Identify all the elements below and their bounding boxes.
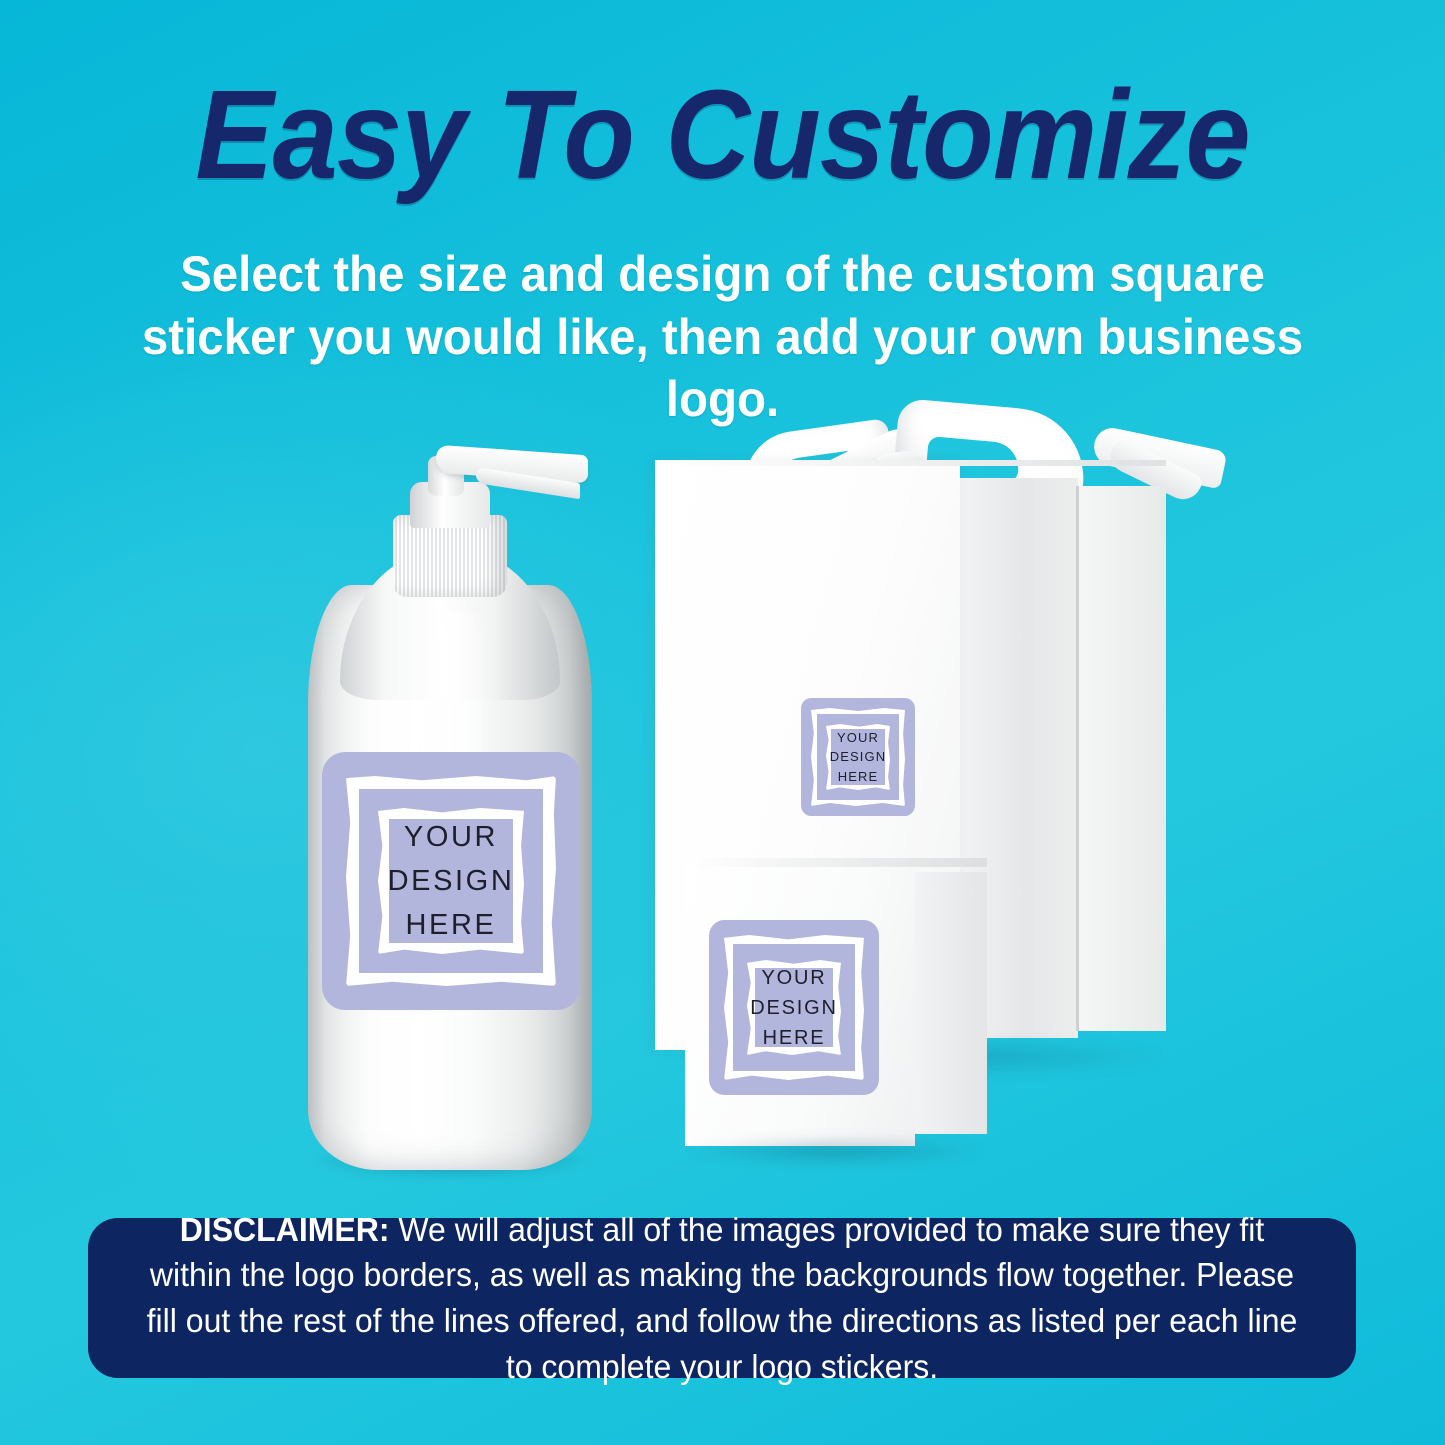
sticker-on-small-box: YOUR DESIGN HERE bbox=[709, 920, 879, 1095]
sticker-line-1: YOUR bbox=[762, 963, 827, 993]
bottle-pump-nozzle-tip bbox=[476, 467, 580, 499]
small-box-side-panel bbox=[915, 872, 987, 1134]
gift-box-back-panel bbox=[1078, 486, 1166, 1031]
sticker-on-bottle: YOUR DESIGN HERE bbox=[322, 752, 580, 1010]
small-box-top-edge bbox=[685, 858, 987, 867]
disclaimer-box: DISCLAIMER: We will adjust all of the im… bbox=[88, 1218, 1356, 1378]
sticker-line-3: HERE bbox=[838, 767, 879, 787]
disclaimer-text: DISCLAIMER: We will adjust all of the im… bbox=[140, 1207, 1304, 1389]
sticker-line-1: YOUR bbox=[404, 815, 498, 859]
sticker-line-2: DESIGN bbox=[750, 993, 837, 1023]
sticker-on-gift-box: YOUR DESIGN HERE bbox=[801, 698, 915, 816]
pump-bottle-product: YOUR DESIGN HERE bbox=[300, 430, 600, 1170]
small-box-product: YOUR DESIGN HERE bbox=[685, 858, 985, 1158]
sticker-label: YOUR DESIGN HERE bbox=[709, 920, 879, 1095]
sticker-label: YOUR DESIGN HERE bbox=[801, 698, 915, 816]
sticker-line-3: HERE bbox=[763, 1023, 826, 1053]
sticker-line-3: HERE bbox=[406, 903, 497, 947]
sticker-line-2: DESIGN bbox=[830, 747, 886, 767]
sticker-label: YOUR DESIGN HERE bbox=[322, 752, 580, 1010]
small-box-shadow bbox=[689, 1138, 983, 1164]
gift-box-lid-edge bbox=[655, 460, 1166, 466]
sticker-line-1: YOUR bbox=[837, 728, 879, 748]
page-title: Easy To Customize bbox=[51, 72, 1395, 198]
gift-box-seam bbox=[1076, 486, 1079, 1031]
sticker-line-2: DESIGN bbox=[388, 859, 515, 903]
promo-banner: Easy To Customize Select the size and de… bbox=[0, 0, 1445, 1445]
disclaimer-lead: DISCLAIMER: bbox=[180, 1211, 390, 1248]
